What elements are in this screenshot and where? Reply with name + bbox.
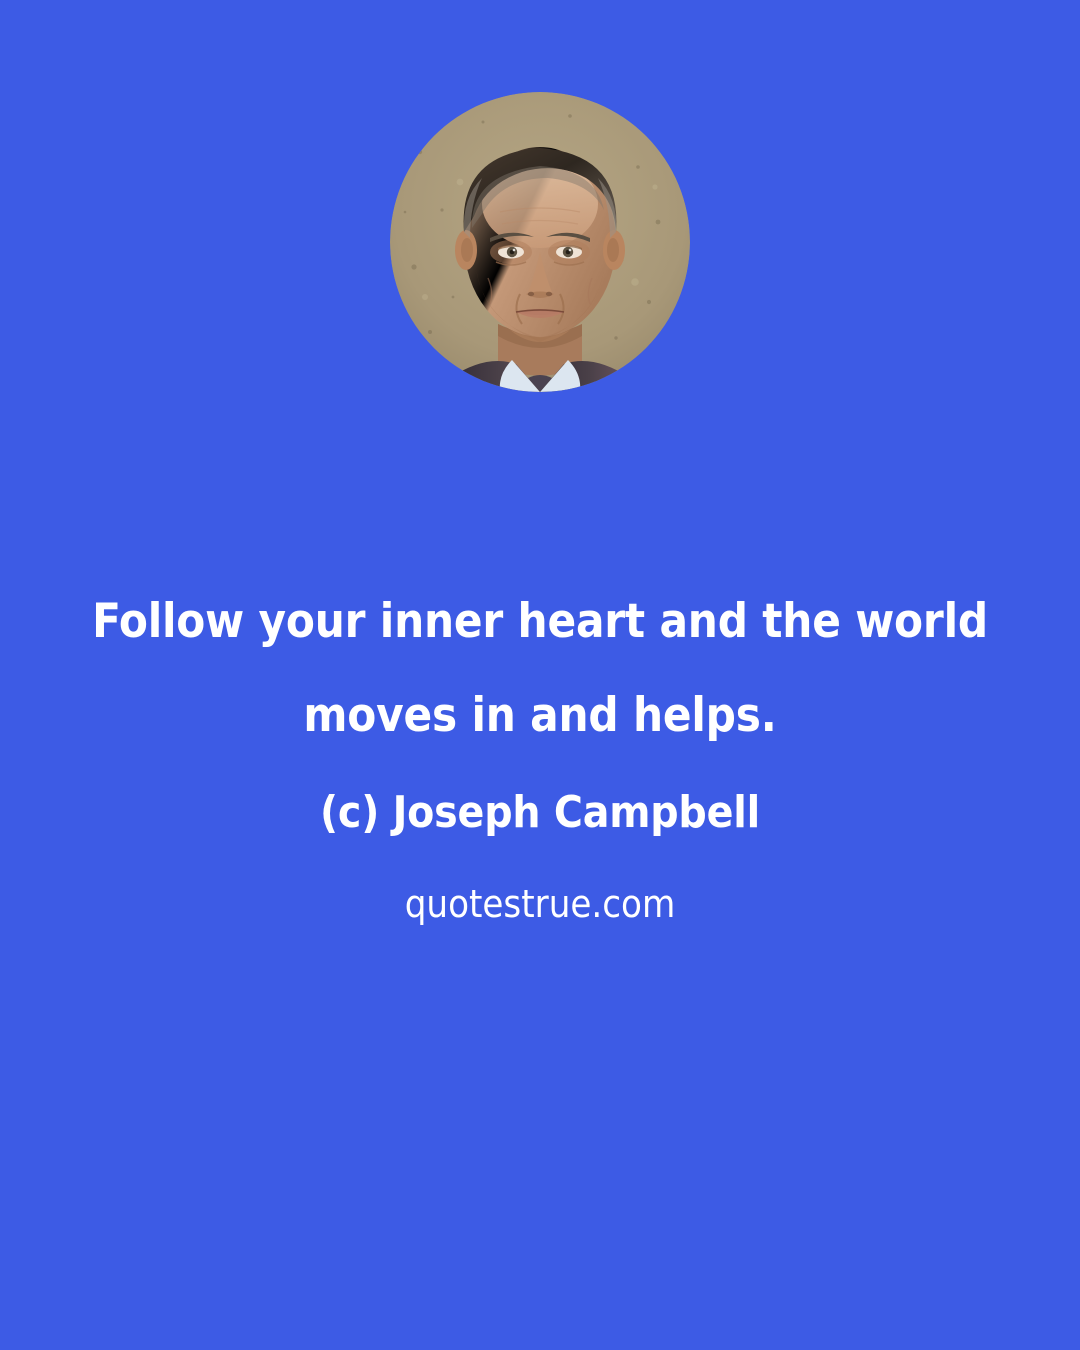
quote-author: (c) Joseph Campbell [0,787,1080,839]
quote-text-block: Follow your inner heart and the world mo… [0,575,1080,927]
site-name: quotestrue.com [0,881,1080,927]
avatar [390,92,690,392]
quote-card: Follow your inner heart and the world mo… [0,0,1080,1350]
quote-text: Follow your inner heart and the world mo… [80,575,1000,763]
portrait-photo [390,92,690,392]
